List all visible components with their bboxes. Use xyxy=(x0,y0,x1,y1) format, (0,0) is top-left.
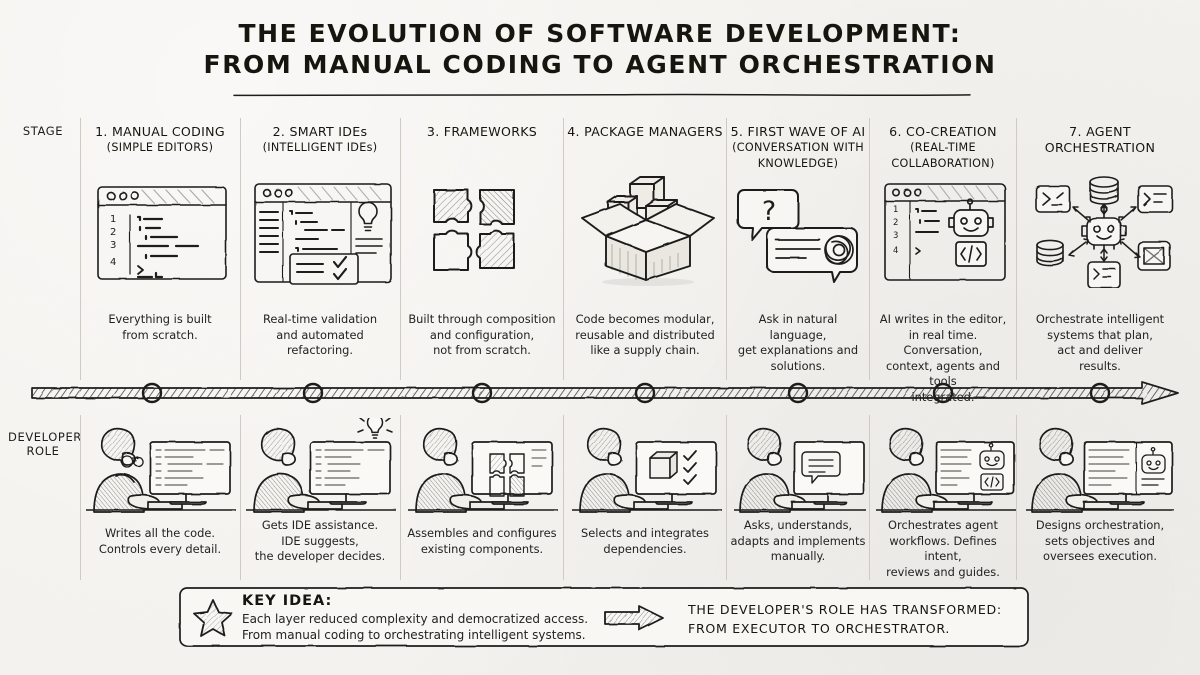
developer-with-puzzle-icon xyxy=(408,424,558,514)
page-title: THE EVOLUTION OF SOFTWARE DEVELOPMENT: F… xyxy=(0,18,1200,80)
stage-row-label: STAGE xyxy=(12,124,74,138)
role-description-1: Writes all the code. Controls every deta… xyxy=(84,526,236,557)
column-separator xyxy=(80,415,81,580)
column-separator xyxy=(726,415,727,580)
svg-text:1: 1 xyxy=(110,214,116,225)
stage-description-5: Ask in natural language, get explanation… xyxy=(729,312,867,374)
arrow-right-icon xyxy=(603,604,665,632)
column-separator xyxy=(1016,118,1017,380)
stage-heading-2-main: 2. SMART IDEs xyxy=(244,124,396,140)
page-title-line-1: THE EVOLUTION OF SOFTWARE DEVELOPMENT: xyxy=(0,18,1200,49)
developer-with-chat-icon xyxy=(734,424,866,514)
puzzle-pieces-icon xyxy=(424,178,546,286)
stage-heading-5-sub: (CONVERSATION WITH KNOWLEDGE) xyxy=(729,140,867,172)
developer-role-label-line-2: ROLE xyxy=(8,444,78,458)
stage-heading-3-main: 3. FRAMEWORKS xyxy=(404,124,560,140)
title-underline xyxy=(232,93,972,97)
svg-text:3: 3 xyxy=(110,240,116,251)
column-separator xyxy=(400,118,401,380)
svg-text:3: 3 xyxy=(893,231,898,241)
column-separator xyxy=(726,118,727,380)
svg-text:4: 4 xyxy=(893,246,898,256)
column-separator xyxy=(869,415,870,580)
transformation-line-2: FROM EXECUTOR TO ORCHESTRATOR. xyxy=(688,621,950,636)
stage-heading-5-main: 5. FIRST WAVE OF AI xyxy=(729,124,867,140)
developer-at-desktop-icon xyxy=(86,424,236,514)
svg-text:?: ? xyxy=(762,196,776,227)
key-idea-box: KEY IDEA: Each layer reduced complexity … xyxy=(178,586,1030,648)
role-description-4: Selects and integrates dependencies. xyxy=(566,526,724,557)
column-separator xyxy=(563,118,564,380)
stage-description-7: Orchestrate intelligent systems that pla… xyxy=(1019,312,1181,374)
code-editor-window-icon: 1234 xyxy=(92,182,232,284)
role-description-3: Assembles and configures existing compon… xyxy=(404,526,560,557)
role-description-7: Designs orchestration, sets objectives a… xyxy=(1019,518,1181,565)
column-separator xyxy=(563,415,564,580)
key-idea-title: KEY IDEA: xyxy=(242,593,332,609)
open-box-with-cubes-icon xyxy=(570,174,722,286)
stage-heading-1-sub: (SIMPLE EDITORS) xyxy=(84,140,236,156)
stage-heading-2: 2. SMART IDEs (INTELLIGENT IDEs) xyxy=(244,124,396,156)
robot-hub-network-icon xyxy=(1028,172,1180,288)
key-idea-line-2: From manual coding to orchestrating inte… xyxy=(242,628,586,642)
column-separator xyxy=(869,118,870,380)
column-separator xyxy=(400,415,401,580)
column-separator xyxy=(80,118,81,380)
smart-ide-window-icon xyxy=(250,180,396,286)
developer-with-agent-panel-icon xyxy=(1026,424,1174,514)
stage-heading-7-sub: ORCHESTRATION xyxy=(1019,140,1181,156)
role-description-6: Orchestrates agent workflows. Defines in… xyxy=(872,518,1014,580)
role-description-2: Gets IDE assistance. IDE suggests, the d… xyxy=(244,518,396,565)
developer-with-robot-editor-icon xyxy=(876,424,1016,514)
stage-heading-7: 7. AGENT ORCHESTRATION xyxy=(1019,124,1181,156)
transformation-line-1: THE DEVELOPER'S ROLE HAS TRANSFORMED: xyxy=(688,602,1002,617)
timeline-arrow xyxy=(30,378,1180,408)
stage-heading-4: 4. PACKAGE MANAGERS xyxy=(566,124,724,140)
stage-description-2: Real-time validation and automated refac… xyxy=(244,312,396,359)
svg-text:1: 1 xyxy=(893,205,898,215)
developer-role-label-line-1: DEVELOPER xyxy=(8,430,78,444)
stage-heading-7-main: 7. AGENT xyxy=(1019,124,1181,140)
developer-with-lightbulb-icon xyxy=(246,418,396,514)
page-title-line-2: FROM MANUAL CODING TO AGENT ORCHESTRATIO… xyxy=(0,49,1200,80)
stage-description-1: Everything is built from scratch. xyxy=(84,312,236,343)
stage-heading-6: 6. CO-CREATION (REAL-TIME COLLABORATION) xyxy=(872,124,1014,172)
column-separator xyxy=(1016,415,1017,580)
column-separator xyxy=(240,415,241,580)
stage-heading-1-main: 1. MANUAL CODING xyxy=(84,124,236,140)
stage-heading-3: 3. FRAMEWORKS xyxy=(404,124,560,140)
stage-heading-5: 5. FIRST WAVE OF AI (CONVERSATION WITH K… xyxy=(729,124,867,172)
key-idea-line-1: Each layer reduced complexity and democr… xyxy=(242,612,588,626)
ide-with-robot-icon: 1234 xyxy=(880,180,1010,284)
chat-bubbles-ai-icon: ? xyxy=(736,182,862,284)
stage-description-3: Built through composition and configurat… xyxy=(404,312,560,359)
star-icon xyxy=(192,598,234,638)
stage-heading-4-main: 4. PACKAGE MANAGERS xyxy=(566,124,724,140)
stage-heading-6-sub: (REAL-TIME COLLABORATION) xyxy=(872,140,1014,172)
stage-heading-1: 1. MANUAL CODING (SIMPLE EDITORS) xyxy=(84,124,236,156)
developer-with-package-icon xyxy=(572,424,722,514)
role-description-5: Asks, understands, adapts and implements… xyxy=(729,518,867,565)
developer-role-row-label: DEVELOPER ROLE xyxy=(8,430,78,458)
svg-text:4: 4 xyxy=(110,257,116,268)
column-separator xyxy=(240,118,241,380)
stage-heading-2-sub: (INTELLIGENT IDEs) xyxy=(244,140,396,156)
svg-text:2: 2 xyxy=(893,218,898,228)
stage-heading-6-main: 6. CO-CREATION xyxy=(872,124,1014,140)
stage-description-4: Code becomes modular, reusable and distr… xyxy=(566,312,724,359)
svg-text:2: 2 xyxy=(110,227,116,238)
